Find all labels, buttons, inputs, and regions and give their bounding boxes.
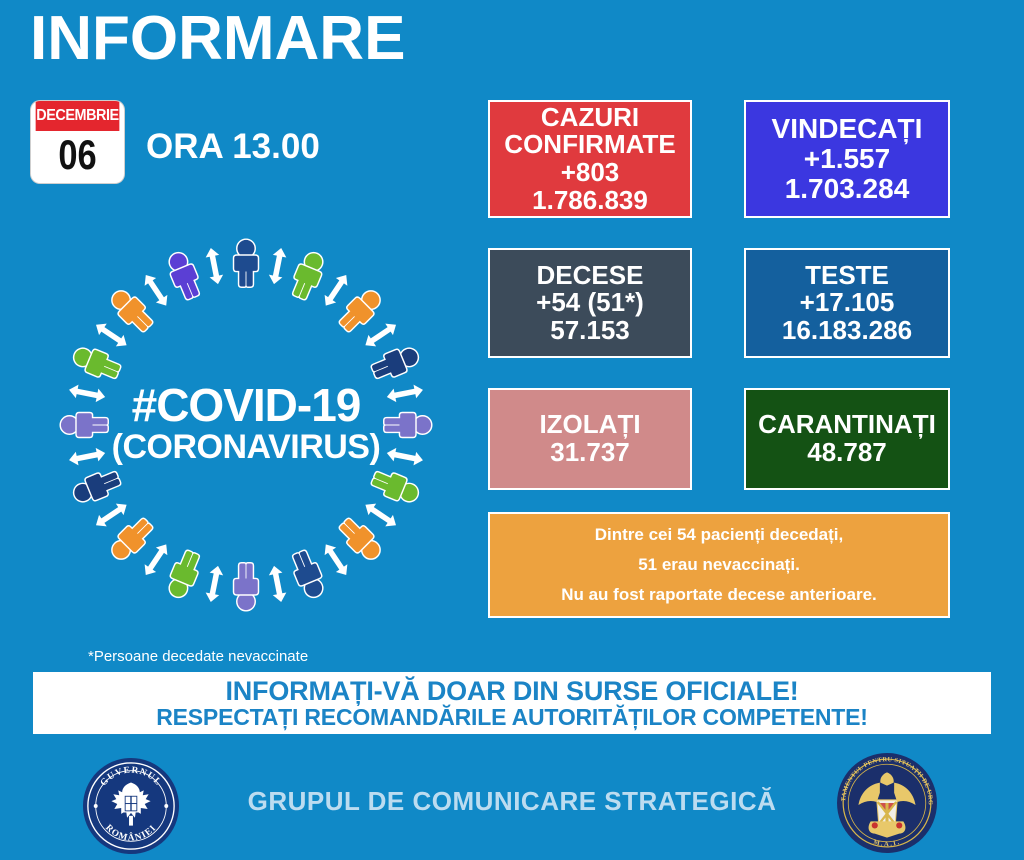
- stat-total: 16.183.286: [782, 317, 912, 345]
- double-arrow-icon: [362, 319, 400, 351]
- double-arrow-icon: [204, 565, 225, 604]
- double-arrow-icon: [140, 541, 172, 579]
- covid-main-label: #COVID-19: [36, 378, 456, 432]
- double-arrow-icon: [320, 541, 352, 579]
- person-figure: [107, 286, 157, 336]
- stat-box-cazuri-confirmate: CAZURI CONFIRMATE +803 1.786.839: [488, 100, 692, 218]
- departamentul-situatii-urgenta-seal-icon: DEPARTAMENTUL PENTRU SITUAȚII DE URGENȚĂ…: [836, 752, 938, 854]
- double-arrow-icon: [140, 271, 172, 309]
- person-figure: [369, 467, 421, 507]
- stat-label-line1: CAZURI: [541, 104, 639, 132]
- person-figure: [70, 343, 122, 383]
- person-figure: [70, 467, 122, 507]
- stat-box-decese: DECESE +54 (51*) 57.153: [488, 248, 692, 358]
- stat-label-line1: IZOLAȚI: [539, 411, 640, 439]
- stat-total: 31.737: [550, 439, 630, 467]
- stat-box-carantinati: CARANTINAȚI 48.787: [744, 388, 950, 490]
- stat-delta: +17.105: [800, 289, 895, 317]
- stat-delta: +54 (51*): [536, 289, 644, 317]
- person-figure: [164, 548, 204, 600]
- note-line-2: 51 erau nevaccinați.: [490, 556, 948, 574]
- note-line-1: Dintre cei 54 pacienți decedați,: [490, 526, 948, 544]
- stat-box-teste: TESTE +17.105 16.183.286: [744, 248, 950, 358]
- covid-sub-label: (CORONAVIRUS): [36, 428, 456, 467]
- person-figure: [234, 563, 258, 610]
- person-figure: [288, 548, 328, 600]
- stat-delta: +1.557: [804, 144, 890, 174]
- stat-label-line1: CARANTINAȚI: [758, 411, 936, 439]
- stat-delta: +803: [561, 159, 620, 187]
- double-arrow-icon: [362, 499, 400, 531]
- person-figure: [336, 515, 386, 565]
- stat-total: 57.153: [550, 317, 630, 345]
- page-title: INFORMARE: [30, 8, 405, 70]
- double-arrow-icon: [92, 319, 130, 351]
- calendar-month: DECEMBRIE: [36, 101, 120, 131]
- stat-total: 48.787: [807, 439, 887, 467]
- stat-label-line2: CONFIRMATE: [504, 131, 675, 159]
- person-figure: [107, 515, 157, 565]
- stat-total: 1.703.284: [785, 174, 910, 204]
- guvernul-romaniei-seal-icon: GUVERNUL ROMÂNIEI: [82, 757, 180, 855]
- stat-label-line1: TESTE: [805, 262, 889, 290]
- footnote-asterisk: *Persoane decedate nevaccinate: [88, 648, 308, 665]
- covid-circle-graphic: #COVID-19 (CORONAVIRUS): [36, 222, 456, 632]
- stat-box-vindecati: VINDECAȚI +1.557 1.703.284: [744, 100, 950, 218]
- double-arrow-icon: [267, 247, 288, 286]
- double-arrow-icon: [92, 499, 130, 531]
- note-box-vaccination: Dintre cei 54 pacienți decedați, 51 erau…: [488, 512, 950, 618]
- person-figure: [369, 343, 421, 383]
- official-sources-banner: INFORMAȚI-VĂ DOAR DIN SURSE OFICIALE! RE…: [33, 672, 991, 734]
- stat-total: 1.786.839: [532, 187, 648, 215]
- calendar-day: 06: [39, 131, 115, 183]
- person-figure: [336, 286, 386, 336]
- stat-box-izolati: IZOLAȚI 31.737: [488, 388, 692, 490]
- person-figure: [288, 249, 328, 301]
- stat-label-line1: VINDECAȚI: [772, 114, 923, 144]
- infographic-root: INFORMARE DECEMBRIE 06 ORA 13.00 #COVID-…: [0, 0, 1024, 860]
- report-time: ORA 13.00: [146, 127, 320, 167]
- double-arrow-icon: [320, 271, 352, 309]
- double-arrow-icon: [204, 247, 225, 286]
- banner-line-1: INFORMAȚI-VĂ DOAR DIN SURSE OFICIALE!: [225, 677, 798, 705]
- banner-line-2: RESPECTAȚI RECOMANDĂRILE AUTORITĂȚILOR C…: [156, 705, 868, 729]
- calendar-badge: DECEMBRIE 06: [31, 101, 124, 183]
- note-line-3: Nu au fost raportate decese anterioare.: [490, 586, 948, 604]
- person-figure: [164, 249, 204, 301]
- double-arrow-icon: [267, 565, 288, 604]
- stat-label-line1: DECESE: [537, 262, 644, 290]
- person-figure: [234, 240, 258, 287]
